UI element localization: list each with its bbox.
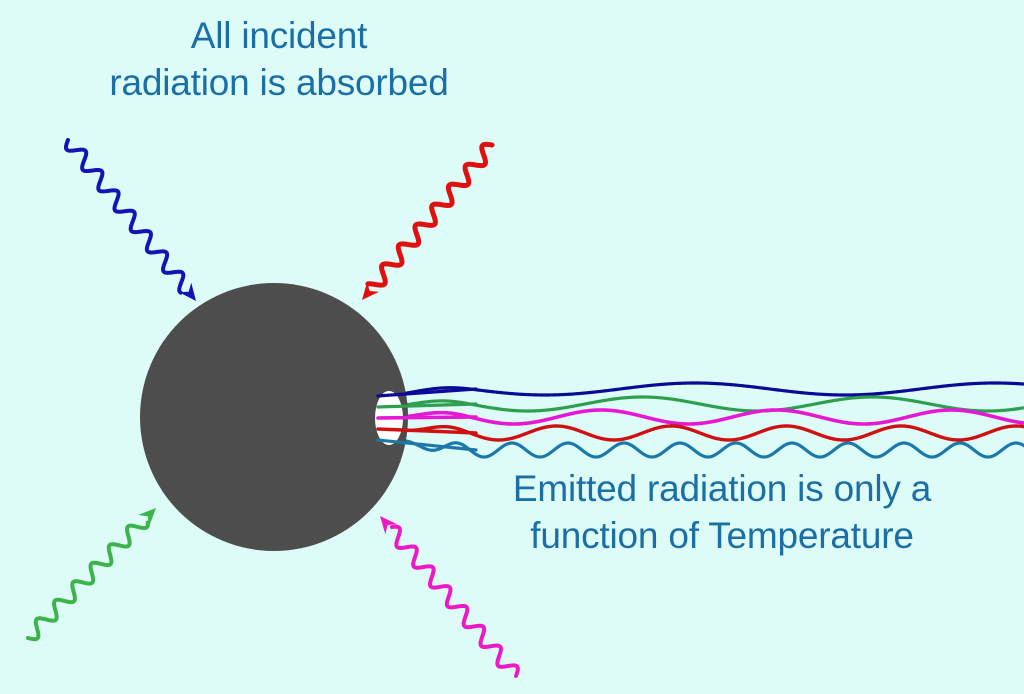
emitted-radiation-group bbox=[378, 383, 1024, 457]
blackbody-sphere bbox=[140, 283, 408, 551]
incident-ray-blue-wave bbox=[66, 140, 183, 293]
caption-absorbed-text: All incident radiation is absorbed bbox=[40, 12, 518, 107]
incident-ray-green bbox=[28, 508, 156, 639]
incident-ray-red-wave bbox=[368, 144, 492, 285]
figure-canvas: All incident radiation is absorbed Emitt… bbox=[0, 0, 1024, 694]
incident-ray-blue bbox=[66, 140, 196, 301]
incident-ray-green-wave bbox=[28, 523, 148, 640]
emitted-ray-magenta-aperture-stub bbox=[378, 417, 476, 418]
caption-emitted-text: Emitted radiation is only a function of … bbox=[452, 465, 992, 560]
incident-ray-red bbox=[362, 144, 492, 300]
